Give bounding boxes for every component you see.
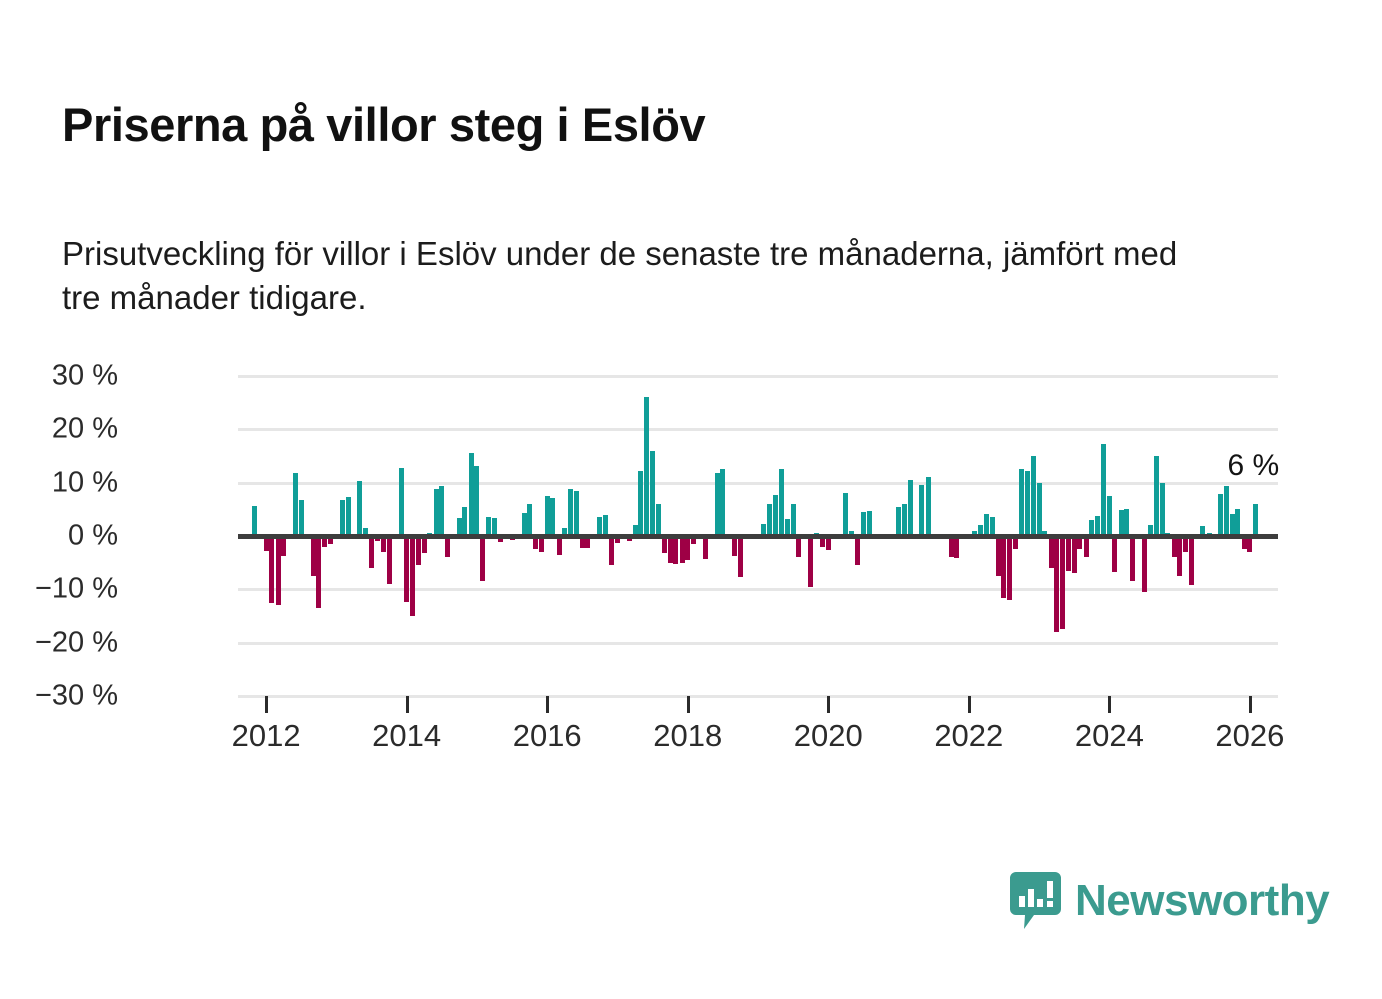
bar[interactable] <box>908 480 913 536</box>
bar[interactable] <box>1001 536 1006 598</box>
bar[interactable] <box>299 500 304 536</box>
bar[interactable] <box>445 536 450 557</box>
page-subtitle: Prisutveckling för villor i Eslöv under … <box>62 232 1192 319</box>
x-axis-tick-label: 2014 <box>372 718 441 754</box>
bar[interactable] <box>1230 514 1235 536</box>
bar[interactable] <box>1224 486 1229 536</box>
bar[interactable] <box>1189 536 1194 585</box>
bar[interactable] <box>522 513 527 536</box>
bar[interactable] <box>252 506 257 536</box>
bar[interactable] <box>434 489 439 536</box>
x-axis-tick-mark <box>827 696 830 713</box>
bar[interactable] <box>1019 469 1024 536</box>
bar[interactable] <box>281 536 286 556</box>
bar[interactable] <box>480 536 485 581</box>
bar[interactable] <box>462 507 467 536</box>
bar[interactable] <box>1084 536 1089 557</box>
value-annotation: 6 % <box>1228 449 1280 483</box>
x-axis-tick-label: 2024 <box>1075 718 1144 754</box>
bar[interactable] <box>346 497 351 536</box>
bar[interactable] <box>680 536 685 563</box>
bar[interactable] <box>550 498 555 536</box>
bar[interactable] <box>311 536 316 576</box>
bar-chart-speech-bubble-icon <box>1010 872 1061 930</box>
bar[interactable] <box>1142 536 1147 592</box>
bar[interactable] <box>340 500 345 536</box>
x-axis-tick-label: 2026 <box>1215 718 1284 754</box>
x-axis-tick-label: 2022 <box>934 718 1003 754</box>
bar[interactable] <box>1037 483 1042 536</box>
bar[interactable] <box>1060 536 1065 629</box>
bar[interactable] <box>1124 509 1129 536</box>
bar[interactable] <box>855 536 860 565</box>
bar[interactable] <box>902 504 907 536</box>
bar[interactable] <box>732 536 737 556</box>
y-axis-tick-label: −20 % <box>0 626 118 659</box>
bar[interactable] <box>1172 536 1177 557</box>
bar[interactable] <box>1253 504 1258 536</box>
bar[interactable] <box>439 486 444 536</box>
bar[interactable] <box>1218 494 1223 536</box>
x-axis-tick-mark <box>968 696 971 713</box>
bar[interactable] <box>656 504 661 536</box>
x-axis-tick-label: 2020 <box>794 718 863 754</box>
bar[interactable] <box>949 536 954 557</box>
bar[interactable] <box>861 512 866 536</box>
x-axis-tick-label: 2016 <box>513 718 582 754</box>
logo-wordmark: Newsworthy <box>1075 876 1329 926</box>
bar[interactable] <box>779 469 784 536</box>
bar[interactable] <box>867 511 872 536</box>
bar[interactable] <box>293 473 298 536</box>
bar[interactable] <box>1025 471 1030 536</box>
bar[interactable] <box>638 471 643 536</box>
x-axis-tick-mark <box>546 696 549 713</box>
y-axis-tick-label: 10 % <box>0 466 118 499</box>
bar[interactable] <box>650 451 655 536</box>
bar[interactable] <box>668 536 673 563</box>
bar[interactable] <box>1112 536 1117 572</box>
bar[interactable] <box>673 536 678 564</box>
bar[interactable] <box>399 468 404 536</box>
bar[interactable] <box>926 477 931 536</box>
bar[interactable] <box>1095 516 1100 536</box>
zero-line <box>238 534 1278 539</box>
bar[interactable] <box>416 536 421 565</box>
bar[interactable] <box>1177 536 1182 576</box>
bar[interactable] <box>1101 444 1106 536</box>
y-axis-tick-label: 20 % <box>0 413 118 446</box>
bar[interactable] <box>954 536 959 558</box>
y-axis-tick-label: 0 % <box>0 520 118 553</box>
bar[interactable] <box>568 489 573 536</box>
bar[interactable] <box>720 469 725 536</box>
plot-area: 30 %20 %10 %0 %−10 %−20 %−30 %6 % <box>238 376 1278 696</box>
bar[interactable] <box>919 485 924 536</box>
bar[interactable] <box>609 536 614 565</box>
bar[interactable] <box>474 466 479 536</box>
bar[interactable] <box>843 493 848 536</box>
y-axis-tick-label: −10 % <box>0 573 118 606</box>
bar[interactable] <box>369 536 374 568</box>
bar[interactable] <box>767 504 772 536</box>
page-root: Priserna på villor steg i Eslöv Prisutve… <box>0 0 1382 999</box>
bar[interactable] <box>715 473 720 536</box>
bar[interactable] <box>1007 536 1012 600</box>
bar[interactable] <box>574 491 579 536</box>
bar[interactable] <box>1031 456 1036 536</box>
bar[interactable] <box>808 536 813 587</box>
bar[interactable] <box>703 536 708 559</box>
bar[interactable] <box>896 507 901 536</box>
bar[interactable] <box>1119 510 1124 536</box>
bar[interactable] <box>387 536 392 584</box>
bar[interactable] <box>1160 483 1165 536</box>
bar[interactable] <box>1049 536 1054 568</box>
bar[interactable] <box>996 536 1001 576</box>
x-axis-tick-label: 2012 <box>232 718 301 754</box>
bar[interactable] <box>357 481 362 536</box>
x-axis-tick-mark <box>687 696 690 713</box>
bar[interactable] <box>1054 536 1059 632</box>
bar[interactable] <box>1072 536 1077 573</box>
bar[interactable] <box>527 504 532 536</box>
bar[interactable] <box>404 536 409 602</box>
bar-chart: 30 %20 %10 %0 %−10 %−20 %−30 %6 % 201220… <box>0 352 1382 772</box>
page-title: Priserna på villor steg i Eslöv <box>62 97 705 152</box>
newsworthy-logo[interactable]: Newsworthy <box>1010 872 1329 930</box>
bar[interactable] <box>1235 509 1240 536</box>
bar[interactable] <box>773 495 778 536</box>
x-axis-tick-mark <box>1249 696 1252 713</box>
bar[interactable] <box>603 515 608 536</box>
x-axis-tick-mark <box>1108 696 1111 713</box>
x-axis-tick-mark <box>406 696 409 713</box>
bar[interactable] <box>984 514 989 536</box>
bar[interactable] <box>545 496 550 536</box>
x-axis-tick-mark <box>265 696 268 713</box>
bar[interactable] <box>644 397 649 536</box>
bar[interactable] <box>469 453 474 536</box>
bar[interactable] <box>276 536 281 605</box>
y-axis-tick-label: −30 % <box>0 680 118 713</box>
bar[interactable] <box>316 536 321 608</box>
bar[interactable] <box>1130 536 1135 581</box>
y-axis-tick-label: 30 % <box>0 360 118 393</box>
bar[interactable] <box>796 536 801 557</box>
x-axis-tick-label: 2018 <box>653 718 722 754</box>
bar[interactable] <box>1066 536 1071 571</box>
bar[interactable] <box>410 536 415 616</box>
x-axis: 20122014201620182020202220242026 <box>238 696 1278 766</box>
bar[interactable] <box>685 536 690 560</box>
bar[interactable] <box>738 536 743 577</box>
bar[interactable] <box>791 504 796 536</box>
bar[interactable] <box>1107 496 1112 536</box>
bar[interactable] <box>269 536 274 603</box>
bar[interactable] <box>1154 456 1159 536</box>
